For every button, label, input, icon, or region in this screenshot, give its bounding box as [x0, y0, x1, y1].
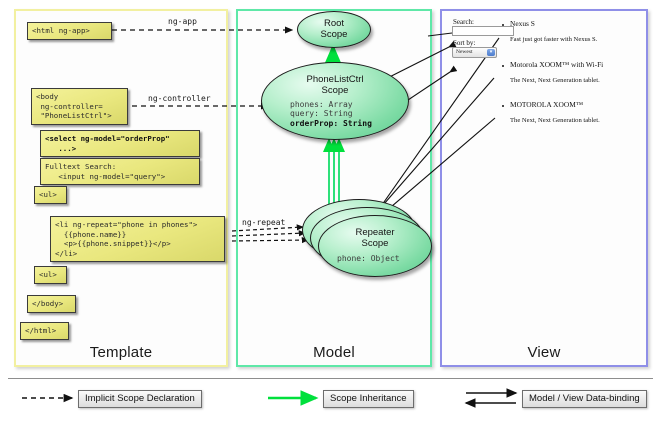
scope-diagram: Template Model View: [0, 0, 661, 425]
legend-item-implicit-scope-declaration: Implicit Scope Declaration: [78, 390, 202, 408]
legend-item-model-view-data-binding: Model / View Data-binding: [522, 390, 647, 408]
legend-arrow-layer: [0, 0, 661, 425]
legend-item-scope-inheritance: Scope Inheritance: [323, 390, 414, 408]
